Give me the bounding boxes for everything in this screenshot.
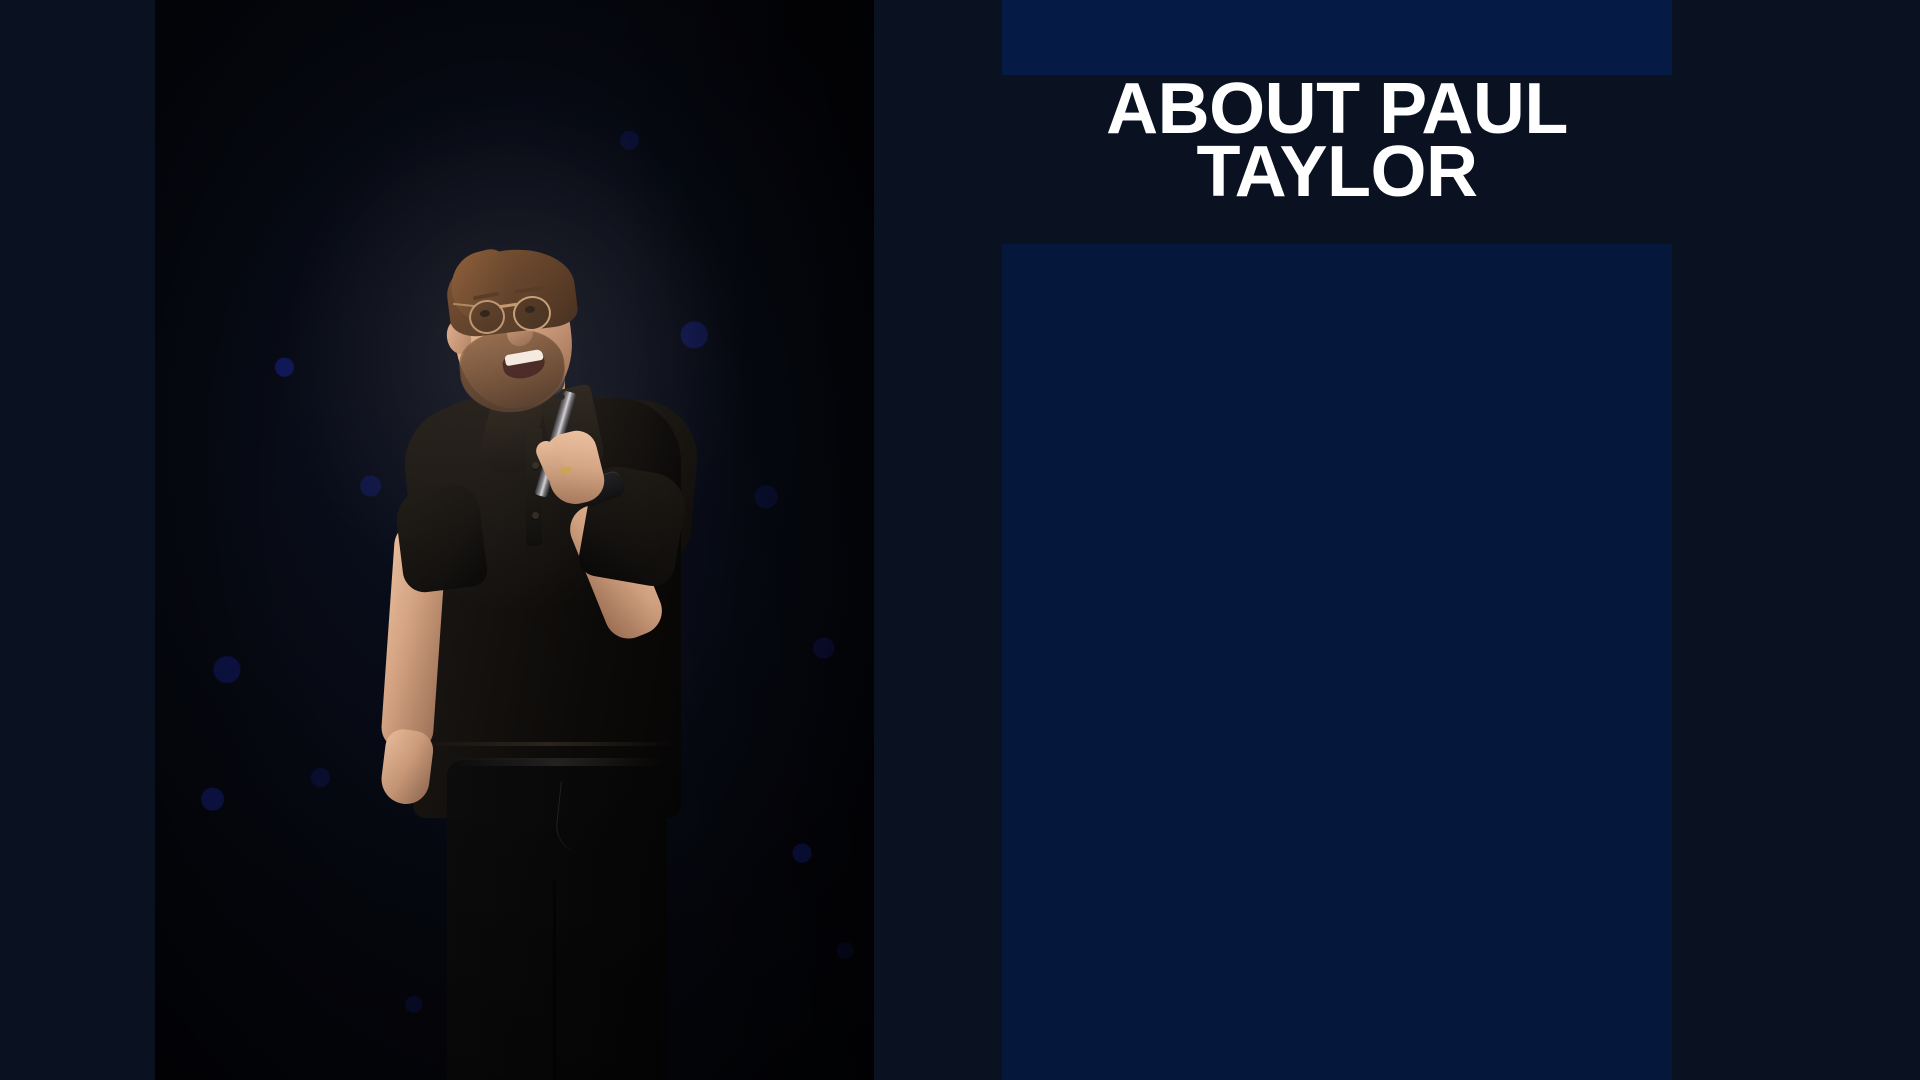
- about-panel: Paul Taylor is a rising star in the worl…: [1002, 244, 1672, 1080]
- speaker-photo: [155, 0, 874, 1080]
- slide-about-paul-taylor: ABOUT PAUL TAYLOR Paul Taylor is a risin…: [0, 0, 1920, 1080]
- page-title-line-2: TAYLOR: [1002, 141, 1672, 204]
- photo-vignette: [155, 0, 874, 1080]
- page-title: ABOUT PAUL TAYLOR: [1002, 78, 1672, 203]
- top-accent-bar: [1002, 0, 1672, 75]
